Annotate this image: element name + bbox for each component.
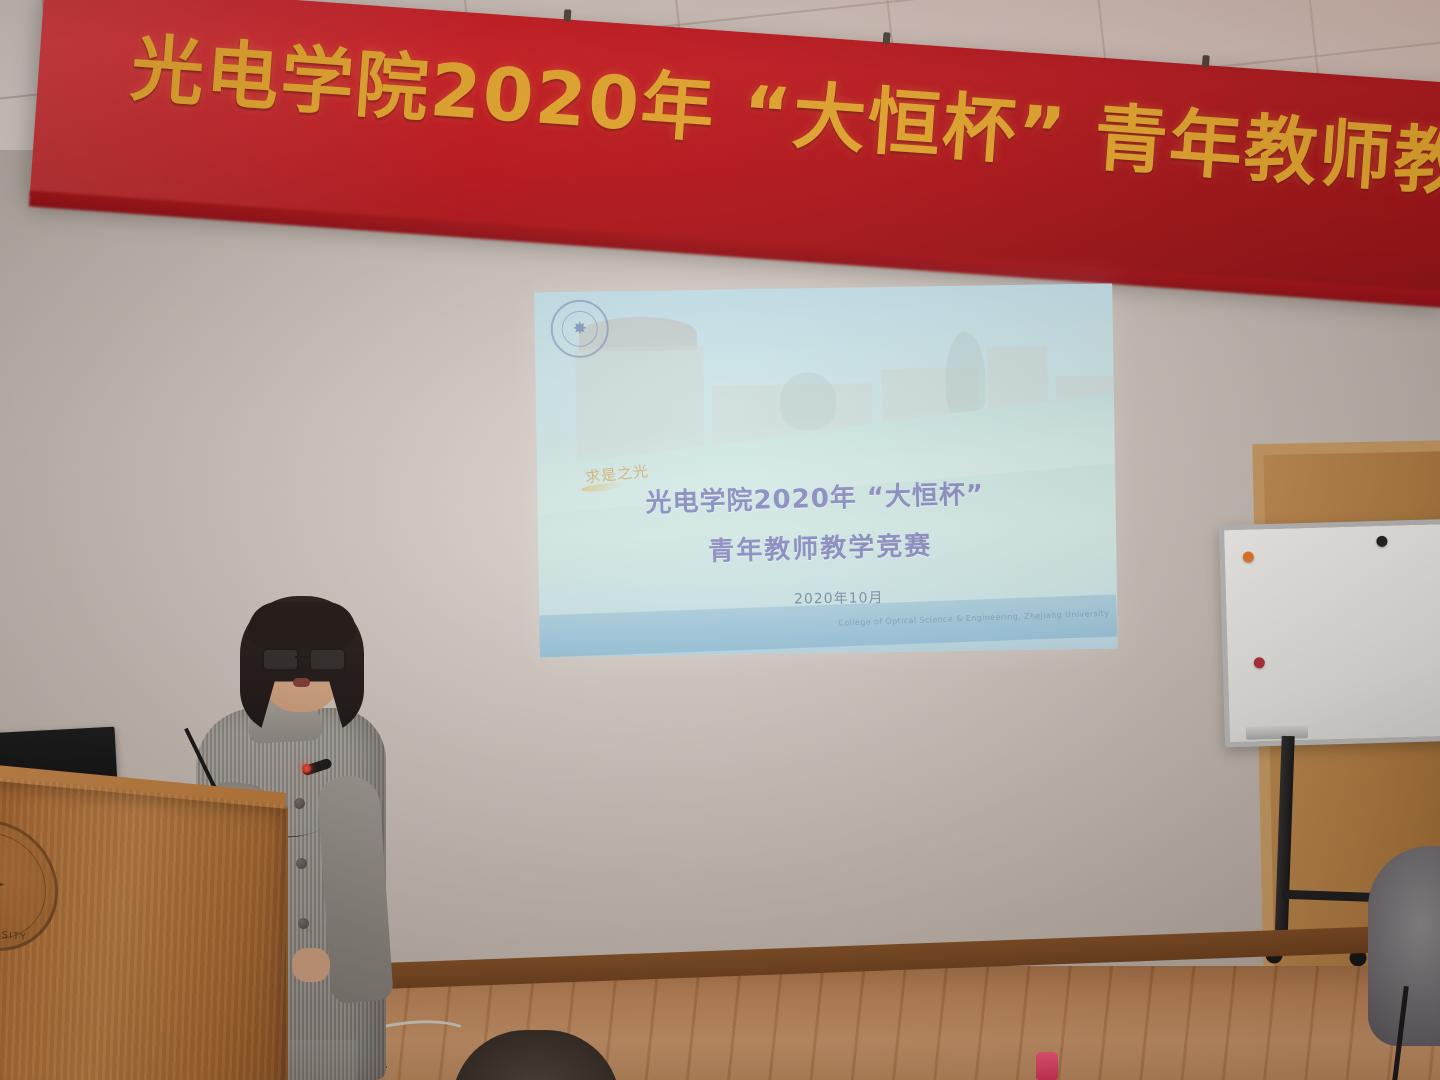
coat-button-icon	[296, 858, 307, 869]
slide-title-line-2: 青年教师教学竞赛	[708, 525, 933, 568]
coat-button-icon	[298, 918, 309, 929]
speaker-fringe	[248, 602, 356, 648]
whiteboard-tray	[1246, 725, 1308, 740]
seal-inner-mark: ✸	[561, 311, 598, 348]
whiteboard[interactable]	[1219, 519, 1440, 748]
magnet-icon[interactable]	[1376, 536, 1387, 547]
microphone-led-icon	[302, 764, 311, 773]
glasses-left-lens	[262, 648, 299, 671]
lecture-hall-photo: 光电学院2020年 “大恒杯” 青年教师教学竞赛 ✸ 求是之光 光电学院2020…	[0, 0, 1440, 1080]
glasses-bridge	[295, 656, 309, 658]
magnet-icon[interactable]	[1243, 551, 1254, 562]
speaker-right-hand	[292, 948, 330, 982]
projection-screen: ✸ 求是之光 光电学院2020年 “大恒杯” 青年教师教学竞赛 2020年10月…	[534, 283, 1118, 657]
banner-clip-icon	[564, 9, 572, 21]
glasses-right-lens	[309, 648, 346, 671]
glasses-icon	[262, 648, 342, 668]
emblem-ring	[0, 828, 46, 944]
magnet-icon[interactable]	[1254, 657, 1265, 668]
banner-clip-icon	[883, 32, 891, 44]
banner-clip-icon	[1202, 55, 1210, 67]
pink-object-on-floor	[1036, 1052, 1058, 1080]
podium: ✦ UNIVERSITY 97	[0, 776, 286, 1080]
